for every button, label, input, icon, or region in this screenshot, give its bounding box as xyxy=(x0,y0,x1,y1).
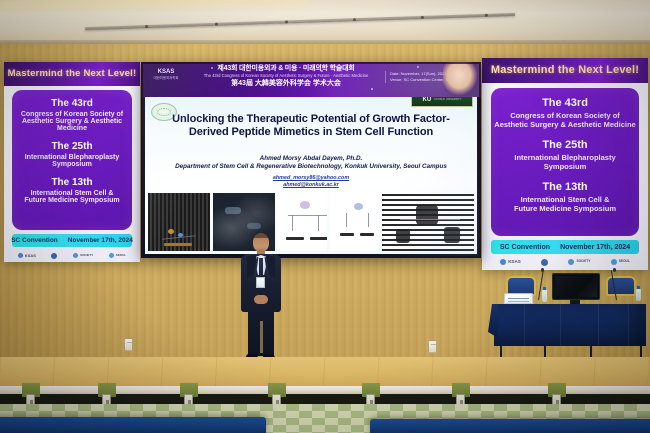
speaker-clasped-hands xyxy=(254,295,268,304)
org-logo-text: KSAS xyxy=(145,69,187,75)
head-table xyxy=(494,276,650,362)
org-logo-korean: 대한미용외과학회 xyxy=(145,77,187,80)
banner-right-line-0-0: Congress of Korean Society of xyxy=(491,111,639,120)
speaker-tie xyxy=(259,258,263,276)
banner-left-ordinal-0: The 43rd xyxy=(12,98,132,109)
banner-right-tagline: Mastermind the Next Level! xyxy=(482,64,648,76)
slide-email-secondary[interactable]: ahmed@konkuk.ac.kr xyxy=(155,182,467,189)
table-cloth xyxy=(494,304,646,346)
slide-figure-protein-structure xyxy=(382,193,474,251)
conference-hall-photo: Mastermind the Next Level! The 43rd Cong… xyxy=(0,0,650,433)
sponsor-logo-circle-icon-right xyxy=(541,259,548,266)
sponsor-logo-seoul-gov-icon-right: SEOUL xyxy=(611,259,630,265)
banner-right-footer-bar: SC Convention November 17th, 2024 xyxy=(491,240,639,254)
banner-right-line-1-1: Symposium xyxy=(491,162,639,171)
slide-author-block: Ahmed Morsy Abdal Dayem, Ph.D. Departmen… xyxy=(155,155,467,170)
slide-affiliation: Department of Stem Cell & Regenerative B… xyxy=(155,163,467,171)
sponsor-logo-circle-icon xyxy=(51,253,57,259)
banner-right: Mastermind the Next Level! The 43rd Cong… xyxy=(482,58,648,270)
slide-header-title-en: The 43rd Congress of Korean Society of A… xyxy=(191,74,381,79)
slide-figure-stem-cell-niche xyxy=(148,193,210,251)
slide-header-org-logo: KSAS 대한미용외과학회 xyxy=(145,69,187,80)
slide-email-block: ahmed_morsy86@yahoo.com ahmed@konkuk.ac.… xyxy=(155,175,467,189)
university-badge-abbrev: KU xyxy=(423,97,432,103)
banner-left-ordinal-2: The 13th xyxy=(12,177,132,188)
audience-chair-right xyxy=(370,419,650,433)
banner-left-footer-venue: SC Convention xyxy=(11,237,58,244)
banner-left-footer-date: November 17th, 2024 xyxy=(68,237,133,244)
ceiling xyxy=(0,0,650,44)
sponsor-logo-ksas-icon-right: KSAS xyxy=(500,259,521,265)
banner-right-footer-date: November 17th, 2024 xyxy=(560,244,630,251)
slide-header-model-photo xyxy=(443,62,479,97)
university-badge-name: KONKUK UNIVERSITY xyxy=(434,99,461,102)
banner-left-line-2-1: Future Medicine Symposium xyxy=(12,197,132,204)
slide-header-title-group: 제43회 대한미용외과 & 미용 · 미래의학 학술대회 The 43rd Co… xyxy=(191,65,381,88)
university-logo-badge: KU KONKUK UNIVERSITY xyxy=(411,97,473,107)
presentation-screen: KSAS 대한미용외과학회 제43회 대한미용외과 & 미용 · 미래의학 학술… xyxy=(141,62,481,258)
banner-right-line-1-0: International Blepharoplasty xyxy=(491,153,639,162)
banner-right-line-0-1: Aesthetic Surgery & Aesthetic Medicine xyxy=(491,120,639,129)
slide-header-banner: KSAS 대한미용외과학회 제43회 대한미용외과 & 미용 · 미래의학 학술… xyxy=(141,62,481,97)
banner-left-ordinal-1: The 25th xyxy=(12,141,132,152)
table-nameplate xyxy=(504,293,534,304)
water-bottle-right xyxy=(636,289,641,301)
speaker-person xyxy=(236,233,286,361)
panel-chair-2 xyxy=(606,276,636,296)
slide-author-name: Ahmed Morsy Abdal Dayem, Ph.D. xyxy=(155,155,467,163)
banner-left-footer-bar: SC Convention November 17th, 2024 xyxy=(12,234,132,247)
microphone-left-head-icon xyxy=(541,268,544,272)
banner-right-ordinal-2: The 13th xyxy=(491,181,639,193)
banner-left: Mastermind the Next Level! The 43rd Cong… xyxy=(4,62,140,262)
microphone-right-head-icon xyxy=(613,268,616,272)
sponsor-logo-ksas-icon: KSAS xyxy=(18,253,36,258)
banner-left-line-0-1: Aesthetic Surgery & Aesthetic Medicine xyxy=(12,118,132,132)
banner-right-sponsor-logos: KSAS SOCIETY SEOUL xyxy=(482,257,648,267)
slide-title: Unlocking the Therapeutic Potential of G… xyxy=(155,113,467,139)
banner-left-line-1-1: Symposium xyxy=(12,161,132,168)
banner-left-line-1-0: International Blepharoplasty xyxy=(12,154,132,161)
ceiling-track-rail xyxy=(85,13,515,30)
slide-figure-strip xyxy=(148,193,474,251)
sponsor-logo-blepharoplasty-icon: SOCIETY xyxy=(73,253,93,258)
banner-right-ordinal-1: The 25th xyxy=(491,139,639,151)
banner-left-line-0-0: Congress of Korean Society of xyxy=(12,111,132,118)
banner-left-tagline: Mastermind the Next Level! xyxy=(4,68,140,79)
slide-body: KU KONKUK UNIVERSITY Unlocking the Thera… xyxy=(145,97,477,254)
wall-outlet-right xyxy=(428,340,437,353)
banner-right-line-2-0: International Stem Cell & xyxy=(491,195,639,204)
audience-chair-left xyxy=(0,417,266,433)
speaker-conference-badge xyxy=(256,277,265,288)
slide-header-title-kr-top: 제43회 대한미용외과 & 미용 · 미래의학 학술대회 xyxy=(191,65,381,73)
speaker-leg-gap xyxy=(260,321,263,353)
banner-right-ordinal-0: The 43rd xyxy=(491,97,639,109)
ceiling-light-glow xyxy=(0,0,310,16)
banner-left-sponsor-logos: KSAS SOCIETY SEOUL xyxy=(4,251,140,260)
banner-left-line-2-0: International Stem Cell & xyxy=(12,190,132,197)
banner-right-line-2-1: Future Medicine Symposium xyxy=(491,204,639,213)
slide-figure-peptide-docking xyxy=(330,193,379,251)
sponsor-logo-seoul-gov-icon: SEOUL xyxy=(109,253,126,258)
banner-right-card: The 43rd Congress of Korean Society of A… xyxy=(491,88,639,236)
water-bottle-left xyxy=(542,290,547,302)
sponsor-logo-blepharoplasty-icon-right: SOCIETY xyxy=(568,259,590,265)
table-monitor xyxy=(552,273,600,300)
banner-left-card: The 43rd Congress of Korean Society of A… xyxy=(12,90,132,230)
banner-right-footer-venue: SC Convention xyxy=(500,244,550,251)
slide-header-title-kr-bottom: 第43屆 大韓美容外科学会 学术大会 xyxy=(191,80,381,88)
wall-outlet-left xyxy=(124,338,133,351)
slide-email-primary[interactable]: ahmed_morsy86@yahoo.com xyxy=(155,175,467,182)
